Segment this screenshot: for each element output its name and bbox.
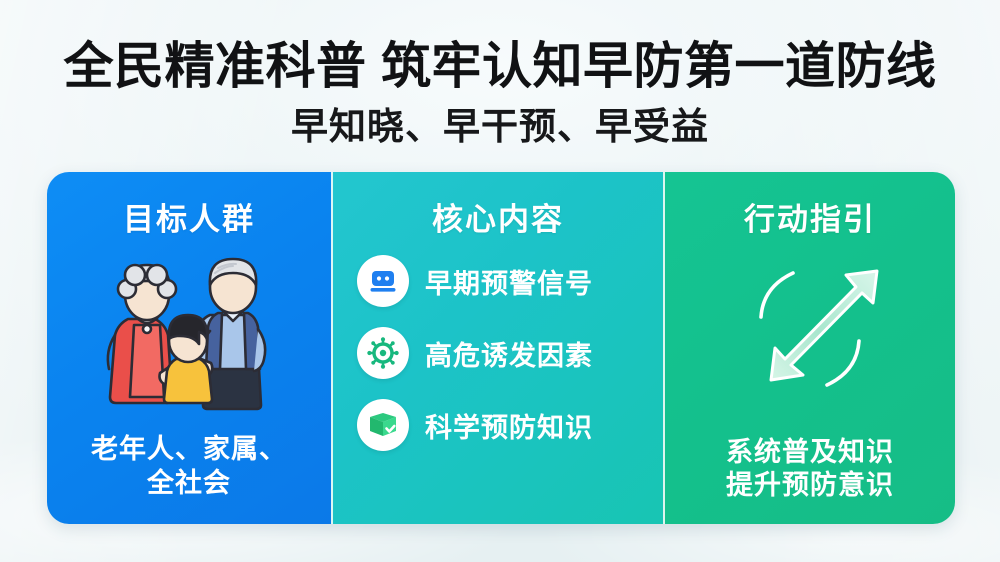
panel-action-guide[interactable]: 行动指引 系统普及知识 提升预防意识 bbox=[663, 172, 955, 524]
list-item[interactable]: 高危诱发因素 bbox=[357, 327, 663, 379]
core-content-list: 早期预警信号 bbox=[333, 255, 663, 451]
double-arrow-cycle-icon bbox=[725, 253, 895, 405]
virus-icon bbox=[357, 327, 409, 379]
open-book-check-icon bbox=[357, 399, 409, 451]
panel-caption-target-audience: 老年人、家属、 全社会 bbox=[47, 433, 331, 500]
list-item[interactable]: 早期预警信号 bbox=[357, 255, 663, 307]
panel-caption-action-guide: 系统普及知识 提升预防意识 bbox=[665, 436, 955, 502]
panel-target-audience[interactable]: 目标人群 bbox=[47, 172, 331, 524]
list-item-label: 科学预防知识 bbox=[425, 406, 593, 445]
three-panel-card: 目标人群 bbox=[47, 172, 955, 524]
list-item[interactable]: 科学预防知识 bbox=[357, 399, 663, 451]
poster-subtitle: 早知晓、早干预、早受益 bbox=[0, 93, 1000, 147]
panel-title-core-content: 核心内容 bbox=[432, 172, 564, 239]
panel-title-target-audience: 目标人群 bbox=[123, 172, 255, 239]
poster-header: 全民精准科普 筑牢认知早防第一道防线 早知晓、早干预、早受益 bbox=[0, 0, 1000, 147]
family-illustration-icon bbox=[84, 245, 294, 413]
caption-line-1: 老年人、家属、 bbox=[47, 433, 331, 466]
caption-line-1: 系统普及知识 bbox=[665, 436, 955, 469]
monitor-face-icon bbox=[357, 255, 409, 307]
infographic-poster: 全民精准科普 筑牢认知早防第一道防线 早知晓、早干预、早受益 目标人群 bbox=[0, 0, 1000, 562]
list-item-label: 高危诱发因素 bbox=[425, 334, 593, 373]
caption-line-2: 全社会 bbox=[47, 467, 331, 500]
panel-core-content[interactable]: 核心内容 早期预警信号 bbox=[331, 172, 663, 524]
poster-main-title: 全民精准科普 筑牢认知早防第一道防线 bbox=[0, 0, 1000, 93]
panel-title-action-guide: 行动指引 bbox=[744, 172, 876, 239]
list-item-label: 早期预警信号 bbox=[425, 262, 593, 301]
caption-line-2: 提升预防意识 bbox=[665, 469, 955, 502]
